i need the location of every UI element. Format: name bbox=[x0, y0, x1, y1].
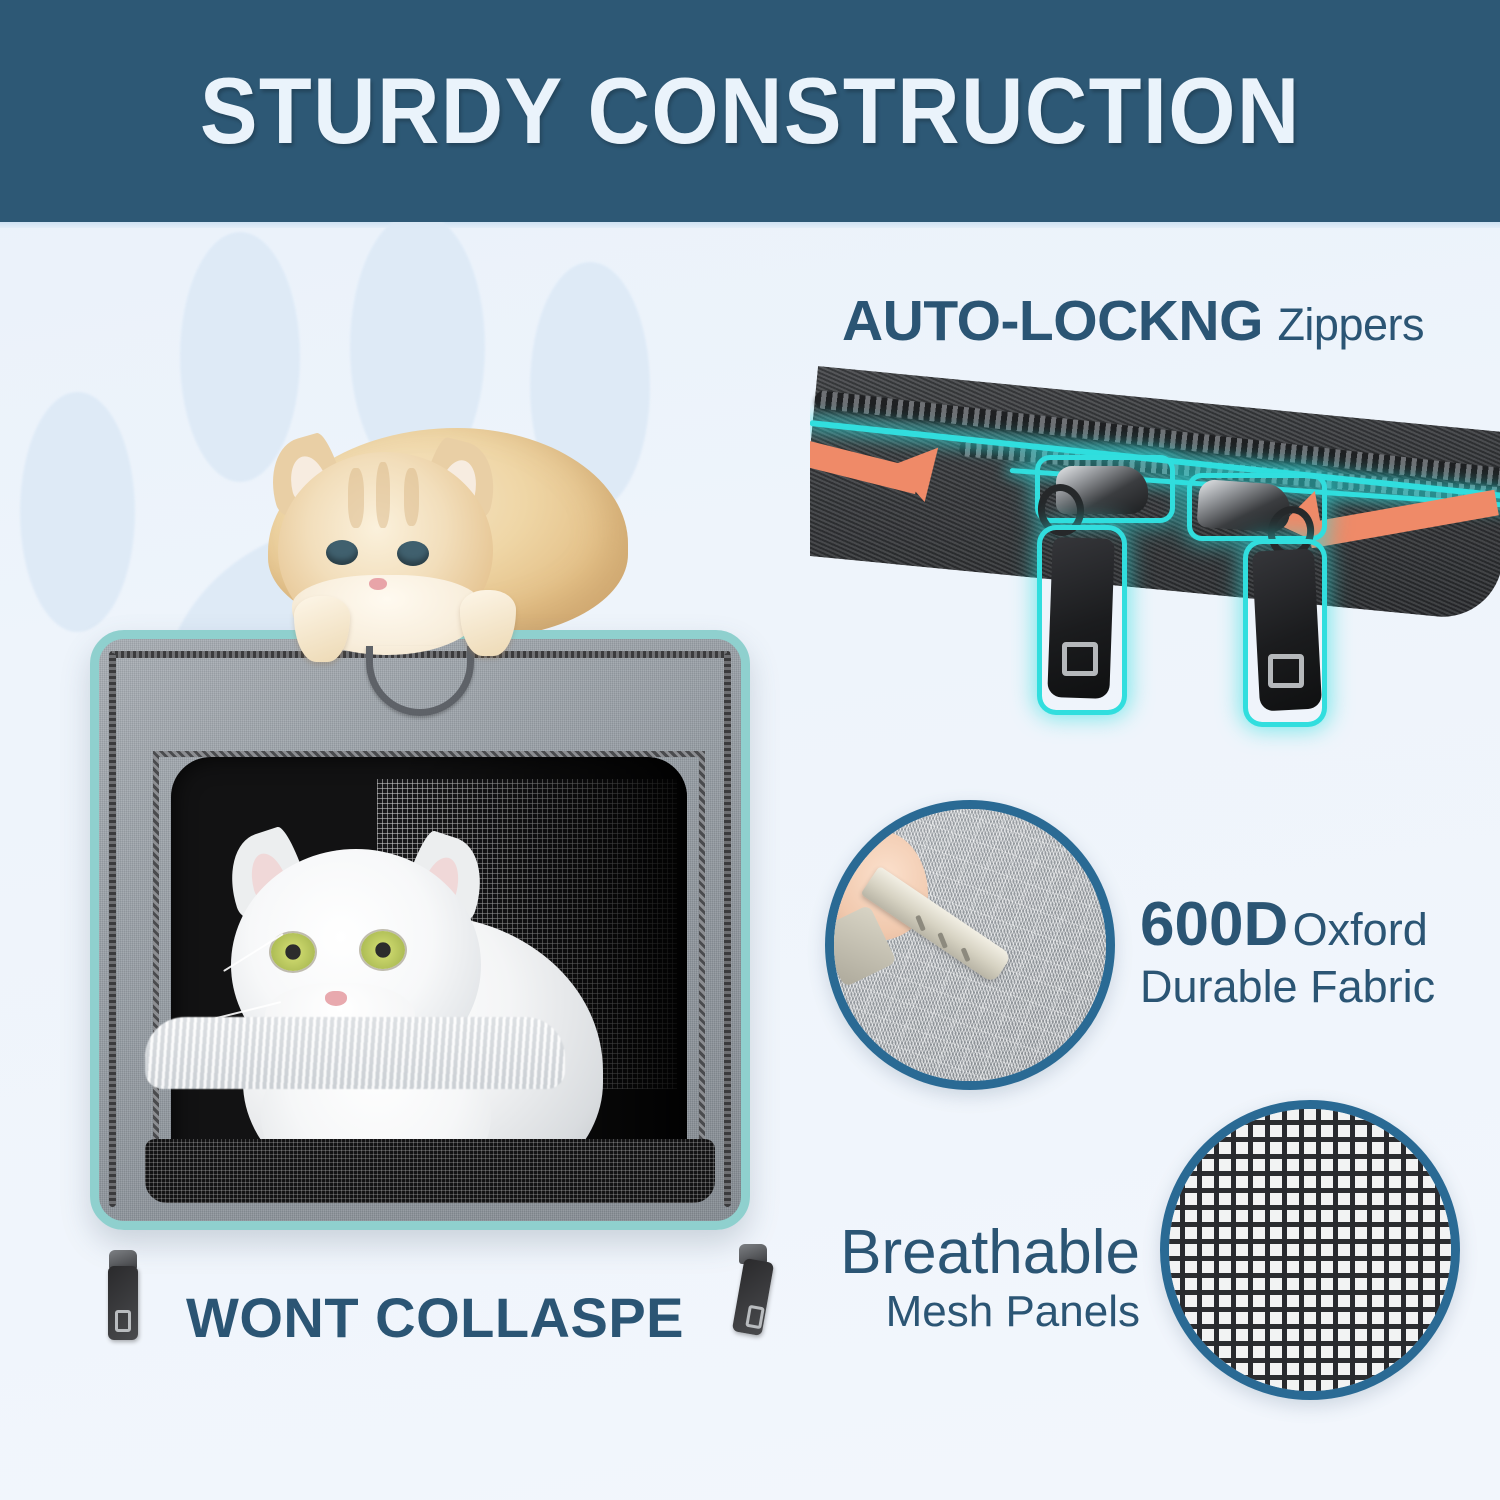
bottom-mesh-strip bbox=[145, 1139, 715, 1203]
zippers-emphasis: AUTO-LOCKNG bbox=[842, 289, 1263, 353]
banner-underline bbox=[0, 222, 1500, 228]
fleece-pad bbox=[145, 1017, 565, 1089]
oxford-subtitle: Durable Fabric bbox=[1140, 961, 1435, 1012]
white-cat-image bbox=[213, 805, 613, 1187]
breathable-subtitle: Mesh Panels bbox=[840, 1287, 1140, 1336]
mesh-circle-photo bbox=[1160, 1100, 1460, 1400]
pet-carrier-photo bbox=[80, 390, 780, 1280]
callout-wont-collapse: WONT COLLASPE bbox=[186, 1285, 684, 1350]
breathable-title: Breathable bbox=[840, 1218, 1140, 1287]
header-banner: STURDY CONSTRUCTION bbox=[0, 0, 1500, 222]
golden-cat-image bbox=[198, 390, 638, 660]
oxford-emphasis: 600D bbox=[1140, 890, 1288, 959]
zippers-rest: Zippers bbox=[1277, 299, 1424, 350]
infographic-page: STURDY CONSTRUCTION bbox=[0, 0, 1500, 1500]
oxford-fabric-circle-photo bbox=[825, 800, 1115, 1090]
page-title: STURDY CONSTRUCTION bbox=[200, 57, 1301, 165]
auto-locking-zipper-photo bbox=[810, 360, 1500, 760]
oxford-rest: Oxford bbox=[1293, 904, 1428, 955]
callout-breathable: Breathable Mesh Panels bbox=[840, 1218, 1140, 1337]
callout-oxford: 600D Oxford Durable Fabric bbox=[1140, 890, 1435, 1012]
mesh-door-window bbox=[171, 757, 687, 1187]
carrier-bag bbox=[90, 630, 750, 1230]
callout-zippers: AUTO-LOCKNG Zippers bbox=[842, 288, 1424, 354]
